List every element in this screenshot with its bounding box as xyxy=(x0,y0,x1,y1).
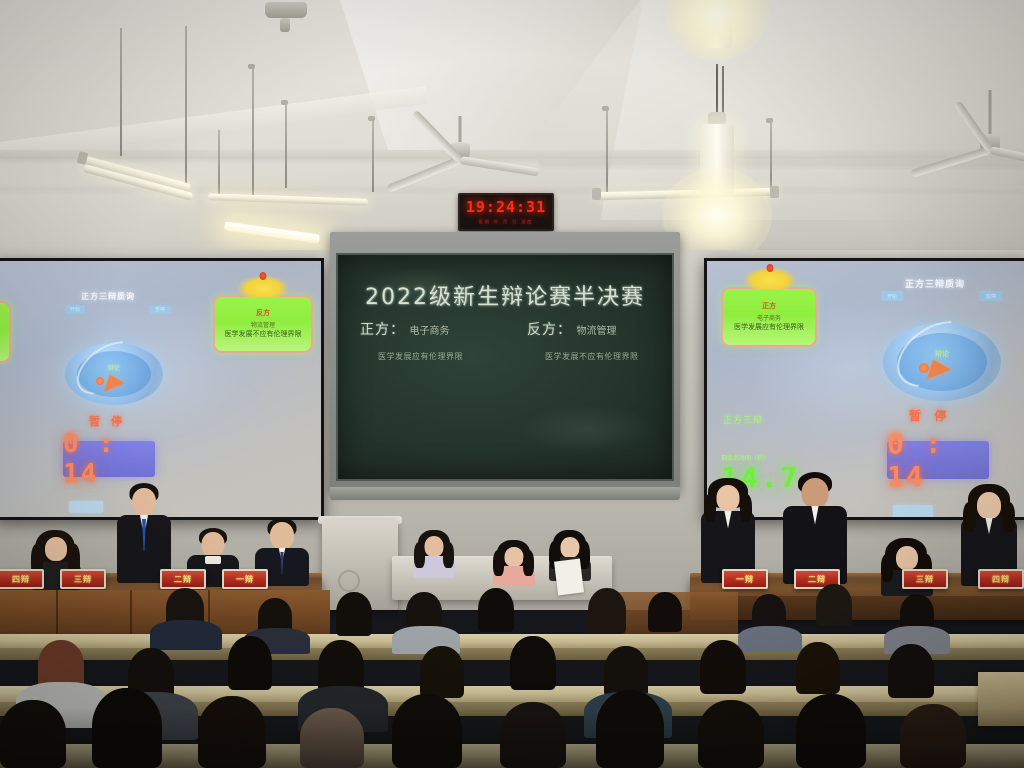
right-screen-emblem-icon: 辩论 xyxy=(883,323,1001,401)
left-screen-stage-title: 正方三辩质询 xyxy=(81,291,135,302)
fluorescent-tube-light xyxy=(208,193,368,206)
led-clock-markers: 星期 年 月 日 温度 xyxy=(479,219,533,225)
audience-head xyxy=(698,700,764,768)
audience-head xyxy=(228,636,272,690)
audience-head xyxy=(392,694,462,768)
left-screen-timer-value: 0 : 14 xyxy=(63,429,155,489)
blackboard-chalk-tray xyxy=(330,487,680,500)
audience-head xyxy=(510,636,556,690)
nameplate-right-1: 一辩 xyxy=(722,569,768,589)
right-side-box-side: 正方 xyxy=(762,301,776,311)
left-screen-cutoff-box: 正方 xyxy=(0,301,11,363)
left-screen-chip-pause[interactable]: 暂停 xyxy=(149,305,171,314)
nameplate-right-3: 三辩 xyxy=(902,569,948,589)
audience-shoulders xyxy=(738,626,802,652)
right-debate-table-front xyxy=(690,596,1024,620)
left-side-box-team: 物流管理 xyxy=(251,320,275,329)
audience-head xyxy=(478,588,514,632)
nameplate-left-4: 四辩 xyxy=(0,569,44,589)
smoke-detector-icon xyxy=(265,2,307,18)
audience-head xyxy=(796,642,840,694)
nameplate-left-1: 一辩 xyxy=(222,569,268,589)
audience-head xyxy=(92,688,162,768)
left-screen-button[interactable] xyxy=(69,501,103,513)
nameplate-label: 四辩 xyxy=(992,574,1010,585)
right-screen-chip-start[interactable]: 开始 xyxy=(881,291,903,301)
blackboard-con-team: 物流管理 xyxy=(576,326,616,337)
debater-standing-right-1 xyxy=(700,478,756,582)
blackboard-con-label: 反方： xyxy=(527,321,572,337)
right-screen-timer: 0 : 14 xyxy=(887,441,989,479)
left-side-box-topic: 医学发展不应有伦理界限 xyxy=(225,331,302,339)
audience-head xyxy=(796,694,866,768)
nameplate-label: 三辩 xyxy=(916,574,934,585)
right-side-box-topic: 医学发展应有伦理界限 xyxy=(734,324,804,332)
blackboard-pro-team: 电子商务 xyxy=(409,326,449,337)
lectern-emblem-icon xyxy=(338,570,360,592)
audience-head xyxy=(0,700,66,768)
left-screen-timer: 0 : 14 xyxy=(63,441,155,477)
right-screen-side-box: 正方 电子商务 医学发展应有伦理界限 xyxy=(721,287,817,347)
blackboard-con-stance: 医学发展不应有伦理界限 xyxy=(545,351,672,362)
right-side-box-team: 电子商务 xyxy=(757,313,781,322)
blackboard-pro-stance: 医学发展应有伦理界限 xyxy=(378,351,505,362)
audience-head xyxy=(596,690,664,768)
audience-head xyxy=(888,644,934,698)
right-screen-button[interactable] xyxy=(893,505,933,517)
ceiling-fan-center xyxy=(375,116,545,196)
audience-head xyxy=(588,588,626,634)
nameplate-label: 一辩 xyxy=(736,574,754,585)
right-screen-ribbon-icon xyxy=(743,267,797,289)
blackboard: 2022级新生辩论赛半决赛 正方： 电子商务 医学发展应有伦理界限 反方： 物流… xyxy=(336,253,674,481)
audience-head xyxy=(500,702,566,768)
nameplate-label: 三辩 xyxy=(74,574,92,585)
speech-paper xyxy=(554,559,584,596)
audience-head xyxy=(300,708,364,768)
debater-standing-left xyxy=(116,483,172,583)
led-clock-time: 19:24:31 xyxy=(466,200,546,215)
blackboard-pro-column: 正方： 电子商务 医学发展应有伦理界限 xyxy=(338,319,505,362)
led-wall-clock: 19:24:31 星期 年 月 日 温度 xyxy=(458,193,554,231)
left-screen-emblem-icon: 辩论 xyxy=(65,343,163,405)
nameplate-label: 二辩 xyxy=(174,574,192,585)
audience-head xyxy=(816,584,852,626)
right-screen-pause-label: 暂 停 xyxy=(909,407,951,424)
right-screen-chip-pause[interactable]: 暂停 xyxy=(979,291,1003,301)
blackboard-pro-label: 正方： xyxy=(360,321,405,337)
right-screen-stage-title: 正方三辩质询 xyxy=(905,277,965,290)
lecture-hall-photo: 19:24:31 星期 年 月 日 温度 正方 正方三辩质询 开始 暂停 辩论 xyxy=(0,0,1024,768)
judge-person xyxy=(412,530,456,576)
left-screen-side-box: 反方 物流管理 医学发展不应有伦理界限 xyxy=(213,295,313,353)
audience-shoulders xyxy=(150,620,222,650)
left-screen-ribbon-icon xyxy=(237,275,289,297)
judge-person xyxy=(492,540,536,580)
blackboard-title: 2022级新生辩论赛半决赛 xyxy=(338,279,672,311)
audience-head xyxy=(336,592,372,636)
blackboard-con-column: 反方： 物流管理 医学发展不应有伦理界限 xyxy=(505,319,672,362)
nameplate-label: 一辩 xyxy=(236,574,254,585)
audience-head xyxy=(198,696,266,768)
pendant-lamp xyxy=(672,0,762,244)
nameplate-left-2: 二辩 xyxy=(160,569,206,589)
fluorescent-tube-light-lit xyxy=(224,221,320,243)
left-side-box-side: 反方 xyxy=(256,308,270,318)
ceiling-fan-right xyxy=(905,90,1024,170)
nameplate-label: 四辩 xyxy=(12,574,30,585)
audience-head xyxy=(700,640,746,694)
debater-standing-right-2 xyxy=(782,472,848,584)
nameplate-label: 二辩 xyxy=(808,574,826,585)
side-desk-right xyxy=(978,672,1024,726)
left-screen-chip-start[interactable]: 开始 xyxy=(65,305,85,314)
audience-head xyxy=(900,704,966,768)
left-screen-pause-label: 暂 停 xyxy=(89,413,126,429)
sprinkler-head-icon xyxy=(280,18,290,32)
nameplate-right-4: 四辩 xyxy=(978,569,1024,589)
audience-head xyxy=(648,592,682,632)
nameplate-left-3: 三辩 xyxy=(60,569,106,589)
right-screen-speaker-tag: 正方三辩 xyxy=(723,413,763,426)
audience-head xyxy=(420,646,464,698)
left-projector-screen: 正方 正方三辩质询 开始 暂停 辩论 反方 物流管理 医学发展不应有伦理界限 xyxy=(0,258,324,520)
